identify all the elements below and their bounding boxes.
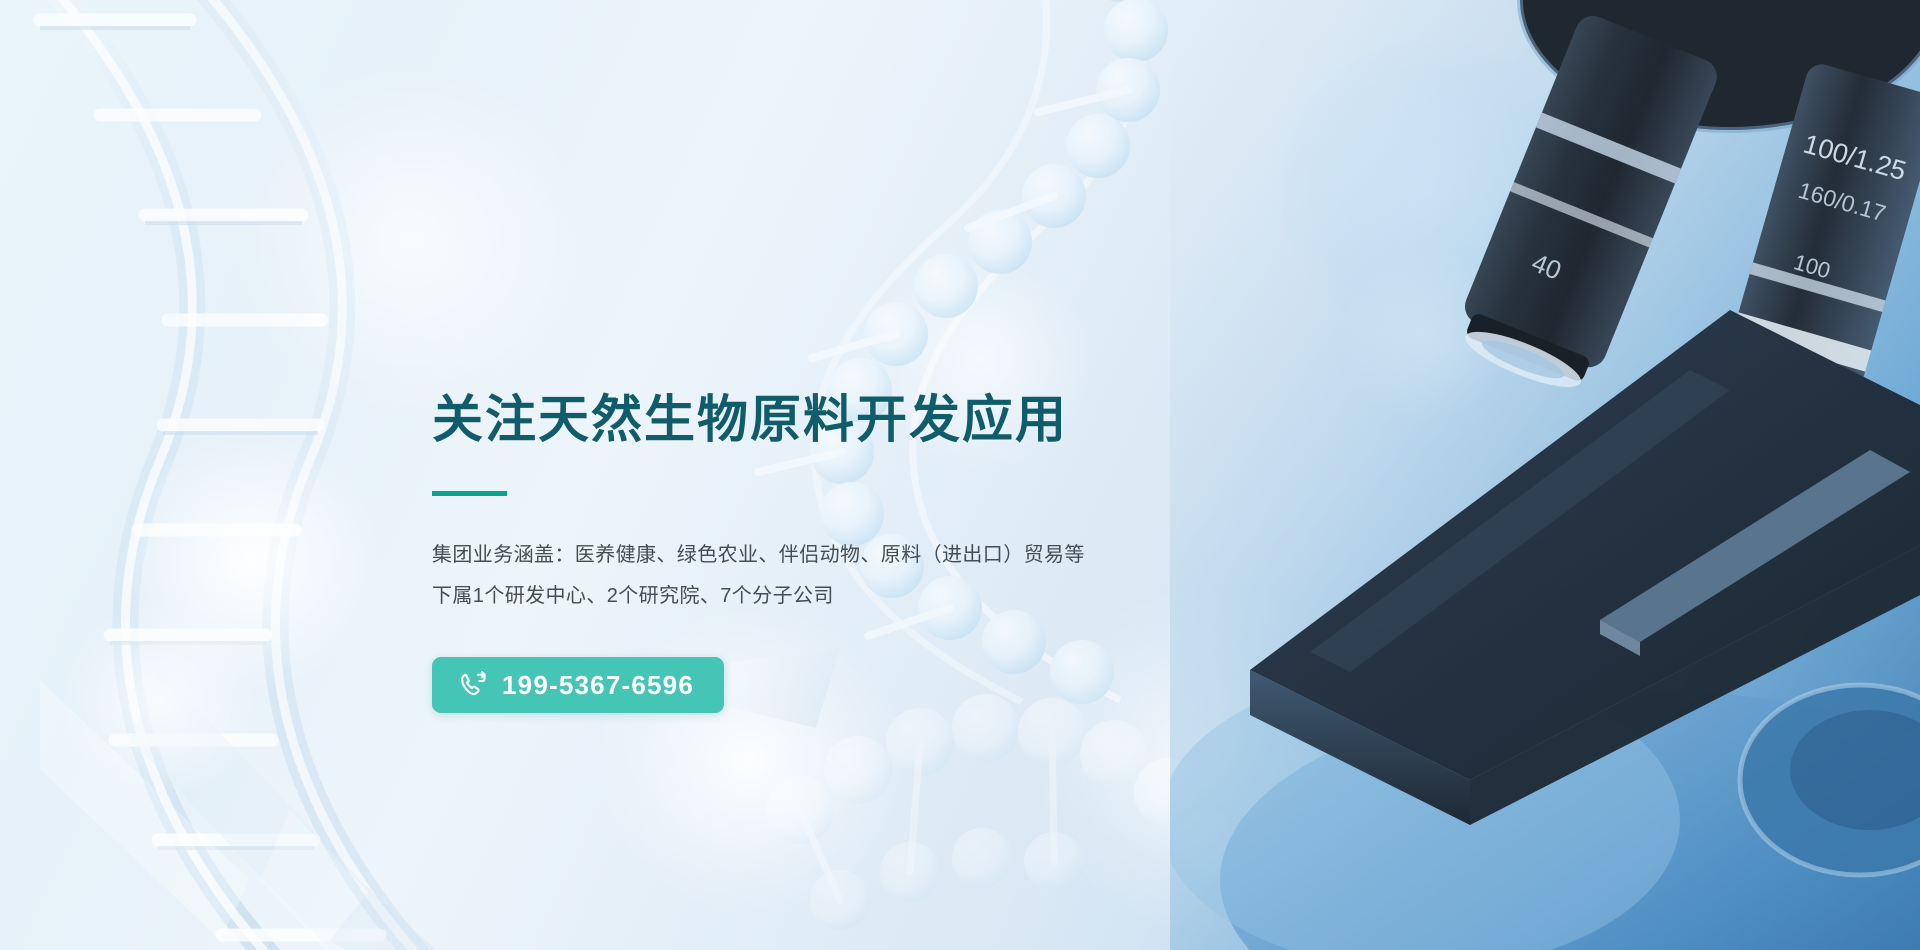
hero-description: 集团业务涵盖：医养健康、绿色农业、伴侣动物、原料（进出口）贸易等 下属1个研发中… <box>432 535 1252 617</box>
hero-description-line-1: 集团业务涵盖：医养健康、绿色农业、伴侣动物、原料（进出口）贸易等 <box>432 535 1252 576</box>
hero-banner: 40 100/1.25 160/0.17 100 <box>0 0 1920 950</box>
accent-divider <box>432 491 507 496</box>
page-title: 关注天然生物原料开发应用 <box>432 390 1252 450</box>
phone-number-label: 199-5367-6596 <box>502 672 694 698</box>
phone-forward-icon <box>458 670 488 700</box>
hero-description-line-2: 下属1个研发中心、2个研究院、7个分子公司 <box>432 576 1252 617</box>
hero-content: 关注天然生物原料开发应用 集团业务涵盖：医养健康、绿色农业、伴侣动物、原料（进出… <box>432 390 1252 713</box>
microscope-photo: 40 100/1.25 160/0.17 100 <box>1170 0 1920 950</box>
phone-call-button[interactable]: 199-5367-6596 <box>432 657 724 713</box>
